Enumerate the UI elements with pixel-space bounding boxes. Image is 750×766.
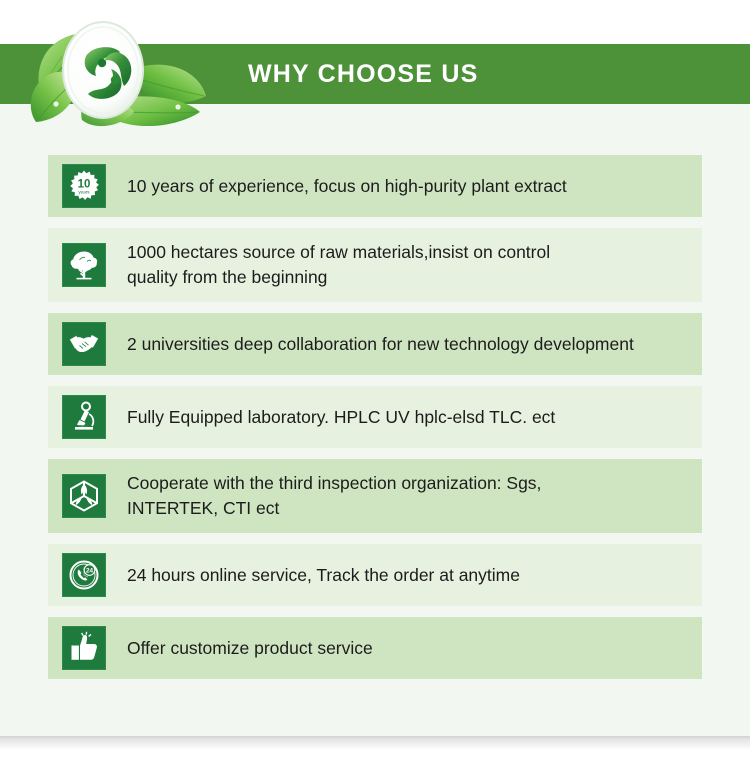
feature-text: Fully Equipped laboratory. HPLC UV hplc-… [127,405,565,430]
feature-text: 10 years of experience, focus on high-pu… [127,174,577,199]
feature-row-laboratory[interactable]: Fully Equipped laboratory. HPLC UV hplc-… [48,386,702,448]
svg-text:24: 24 [86,567,94,574]
feature-row-online-service[interactable]: 24 24 hours online service, Track the or… [48,544,702,606]
tree-icon [62,243,106,287]
feature-text: 2 universities deep collaboration for ne… [127,332,644,357]
feature-row-customize[interactable]: Offer customize product service [48,617,702,679]
why-choose-us-page: WHY CHOOSE US 10 years 10 years of exper… [0,0,750,766]
svg-text:10: 10 [78,178,91,190]
feature-row-raw-materials[interactable]: 1000 hectares source of raw materials,in… [48,228,702,302]
handshake-icon [62,322,106,366]
feature-row-experience[interactable]: 10 years 10 years of experience, focus o… [48,155,702,217]
ten-years-badge-icon: 10 years [62,164,106,208]
svg-text:years: years [78,190,90,195]
bottom-shadow [0,736,750,750]
feature-row-inspection[interactable]: Cooperate with the third inspection orga… [48,459,702,533]
microscope-icon [62,395,106,439]
phone-24h-icon: 24 [62,553,106,597]
feature-text: Offer customize product service [127,636,383,661]
feature-text: 1000 hectares source of raw materials,in… [127,240,560,290]
feature-text: 24 hours online service, Track the order… [127,563,530,588]
cube-inspection-icon [62,474,106,518]
company-leaf-logo [16,8,232,130]
thumbs-up-icon [62,626,106,670]
feature-text: Cooperate with the third inspection orga… [127,471,551,521]
feature-list: 10 years 10 years of experience, focus o… [48,155,702,690]
feature-row-universities[interactable]: 2 universities deep collaboration for ne… [48,313,702,375]
page-title: WHY CHOOSE US [248,44,478,104]
